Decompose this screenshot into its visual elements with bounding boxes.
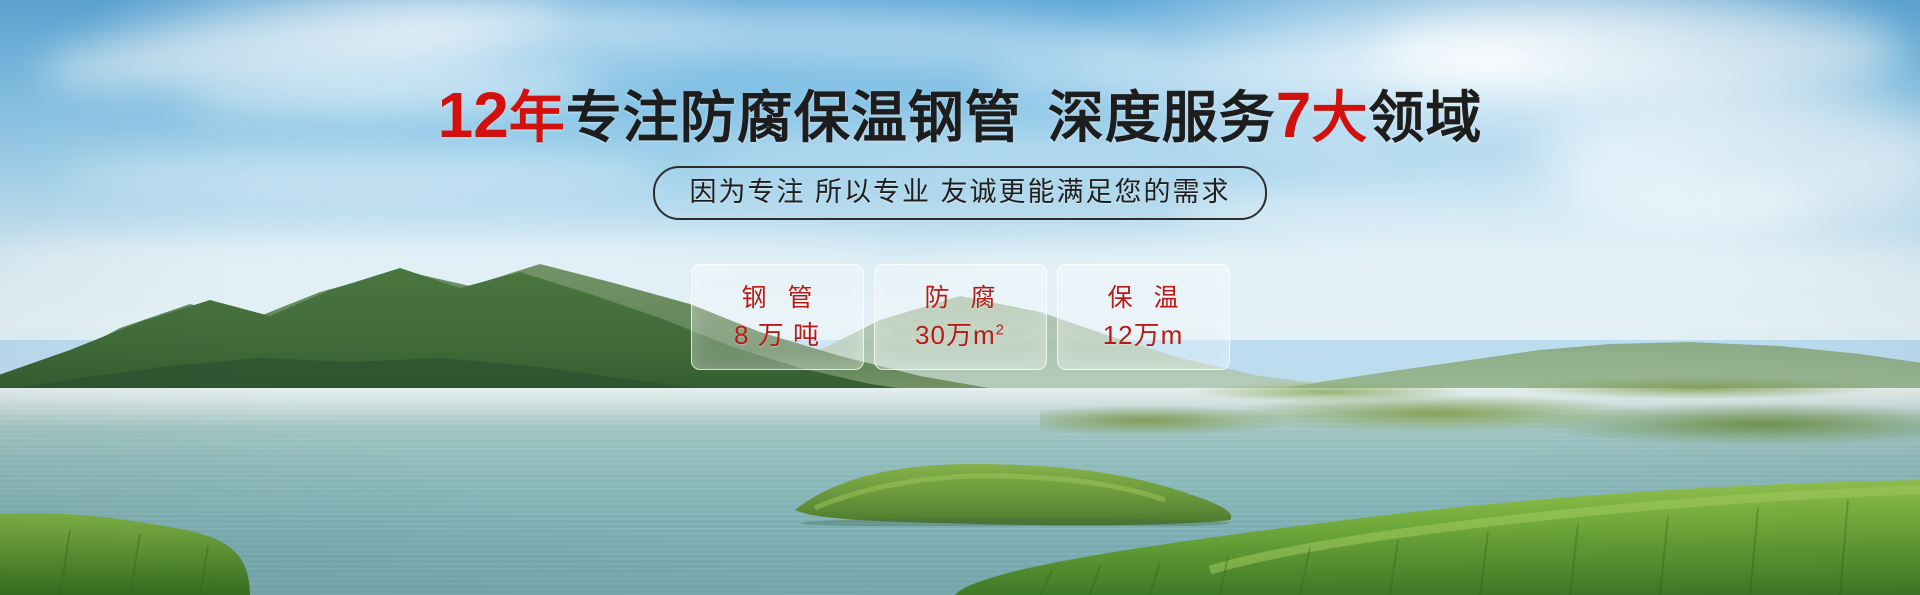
headline-service-text: 深度服务 (1048, 86, 1276, 149)
headline-fields-tail: 领域 (1368, 86, 1482, 149)
stat-card-value: 12万m (1103, 320, 1184, 350)
stat-card-value-superscript: 2 (996, 321, 1005, 338)
stat-card-title: 钢 管 (735, 284, 820, 312)
stat-card-value-main: 30万m (915, 320, 996, 350)
stat-card-insulation[interactable]: 保 温 12万m (1057, 264, 1230, 370)
stat-card-value-main: 12万m (1103, 320, 1184, 350)
headline-main-text: 专注防腐保温钢管 (566, 86, 1022, 149)
stat-card-value: 30万m2 (915, 320, 1005, 350)
subtitle-wrapper: 因为专注 所以专业 友诚更能满足您的需求 (0, 166, 1920, 220)
stat-card-title: 保 温 (1101, 284, 1186, 312)
banner-content: 12年专注防腐保温钢管深度服务7大领域 因为专注 所以专业 友诚更能满足您的需求… (0, 0, 1920, 595)
stat-card-anticorrosion[interactable]: 防 腐 30万m2 (874, 264, 1047, 370)
headline-fields-unit: 大 (1311, 86, 1368, 149)
stat-card-value-main: 8 万 吨 (734, 320, 820, 350)
promo-banner: 12年专注防腐保温钢管深度服务7大领域 因为专注 所以专业 友诚更能满足您的需求… (0, 0, 1920, 595)
headline: 12年专注防腐保温钢管深度服务7大领域 (0, 84, 1920, 149)
headline-years-number: 12 (438, 79, 509, 151)
stat-card-value: 8 万 吨 (734, 320, 820, 350)
headline-years-unit: 年 (509, 86, 566, 149)
stat-card-title: 防 腐 (918, 284, 1003, 312)
subtitle-pill: 因为专注 所以专业 友诚更能满足您的需求 (653, 166, 1266, 220)
stats-card-group: 钢 管 8 万 吨 防 腐 30万m2 保 温 12万m (0, 264, 1920, 370)
stat-card-steel-pipe[interactable]: 钢 管 8 万 吨 (691, 264, 864, 370)
headline-fields-number: 7 (1276, 79, 1312, 151)
